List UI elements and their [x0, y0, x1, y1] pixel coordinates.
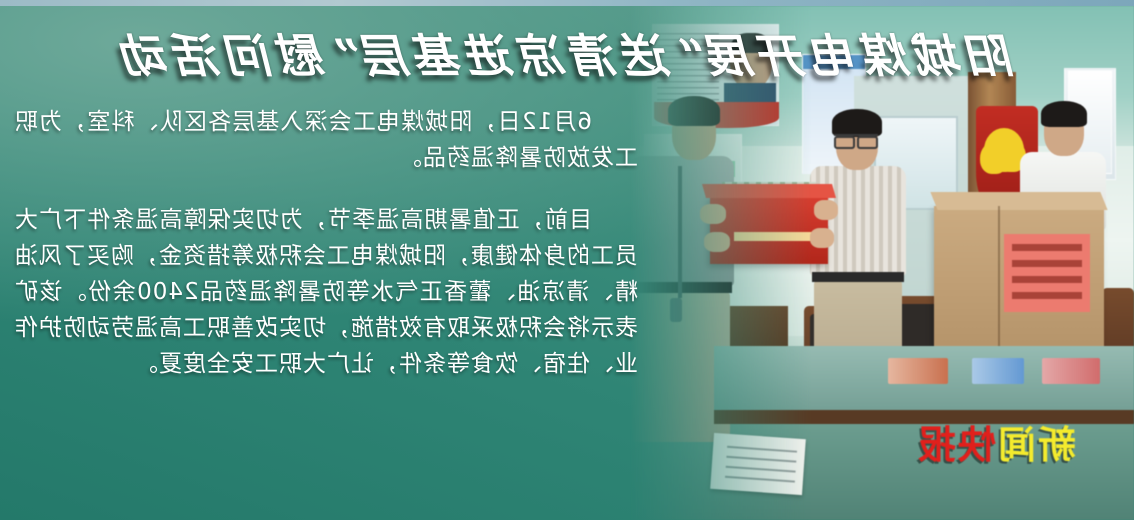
photo-watermark: 新闻快报 — [916, 426, 1076, 464]
page-title: 阳城煤电开展“送清凉进基层”慰问活动 — [0, 16, 1134, 90]
magazine — [972, 358, 1024, 384]
article-paragraph-1: 6月12日，阳城煤电工会深入基层各区队、科室，为职工发放防暑降温药品。 — [14, 104, 638, 176]
article-body: 6月12日，阳城煤电工会深入基层各区队、科室，为职工发放防暑降温药品。 目前，正… — [14, 104, 638, 382]
hand — [814, 200, 838, 220]
watermark-text-yellow: 新闻 — [996, 423, 1076, 467]
carton-red-label — [1004, 234, 1090, 312]
cardboard-carton — [934, 206, 1104, 351]
news-banner: 新闻快报 阳城煤电开展“送清凉进基层”慰问活动 6月12日，阳城煤电工会深入基层… — [0, 0, 1134, 520]
magazine — [1042, 358, 1100, 384]
magazine — [888, 358, 948, 384]
paper-sheet — [710, 433, 806, 495]
article-paragraph-2: 目前，正值暑期高温季节，为切实保障高温条件下广大员工的身体健康，阳城煤电工会积极… — [14, 202, 638, 382]
glasses-icon — [834, 134, 878, 145]
hand — [810, 228, 834, 248]
hand — [700, 204, 726, 224]
hand — [704, 232, 730, 252]
flower-icon — [984, 128, 1024, 172]
table-edge — [714, 410, 1134, 424]
watermark-text-red: 快报 — [916, 423, 996, 467]
gift-box — [710, 196, 828, 264]
